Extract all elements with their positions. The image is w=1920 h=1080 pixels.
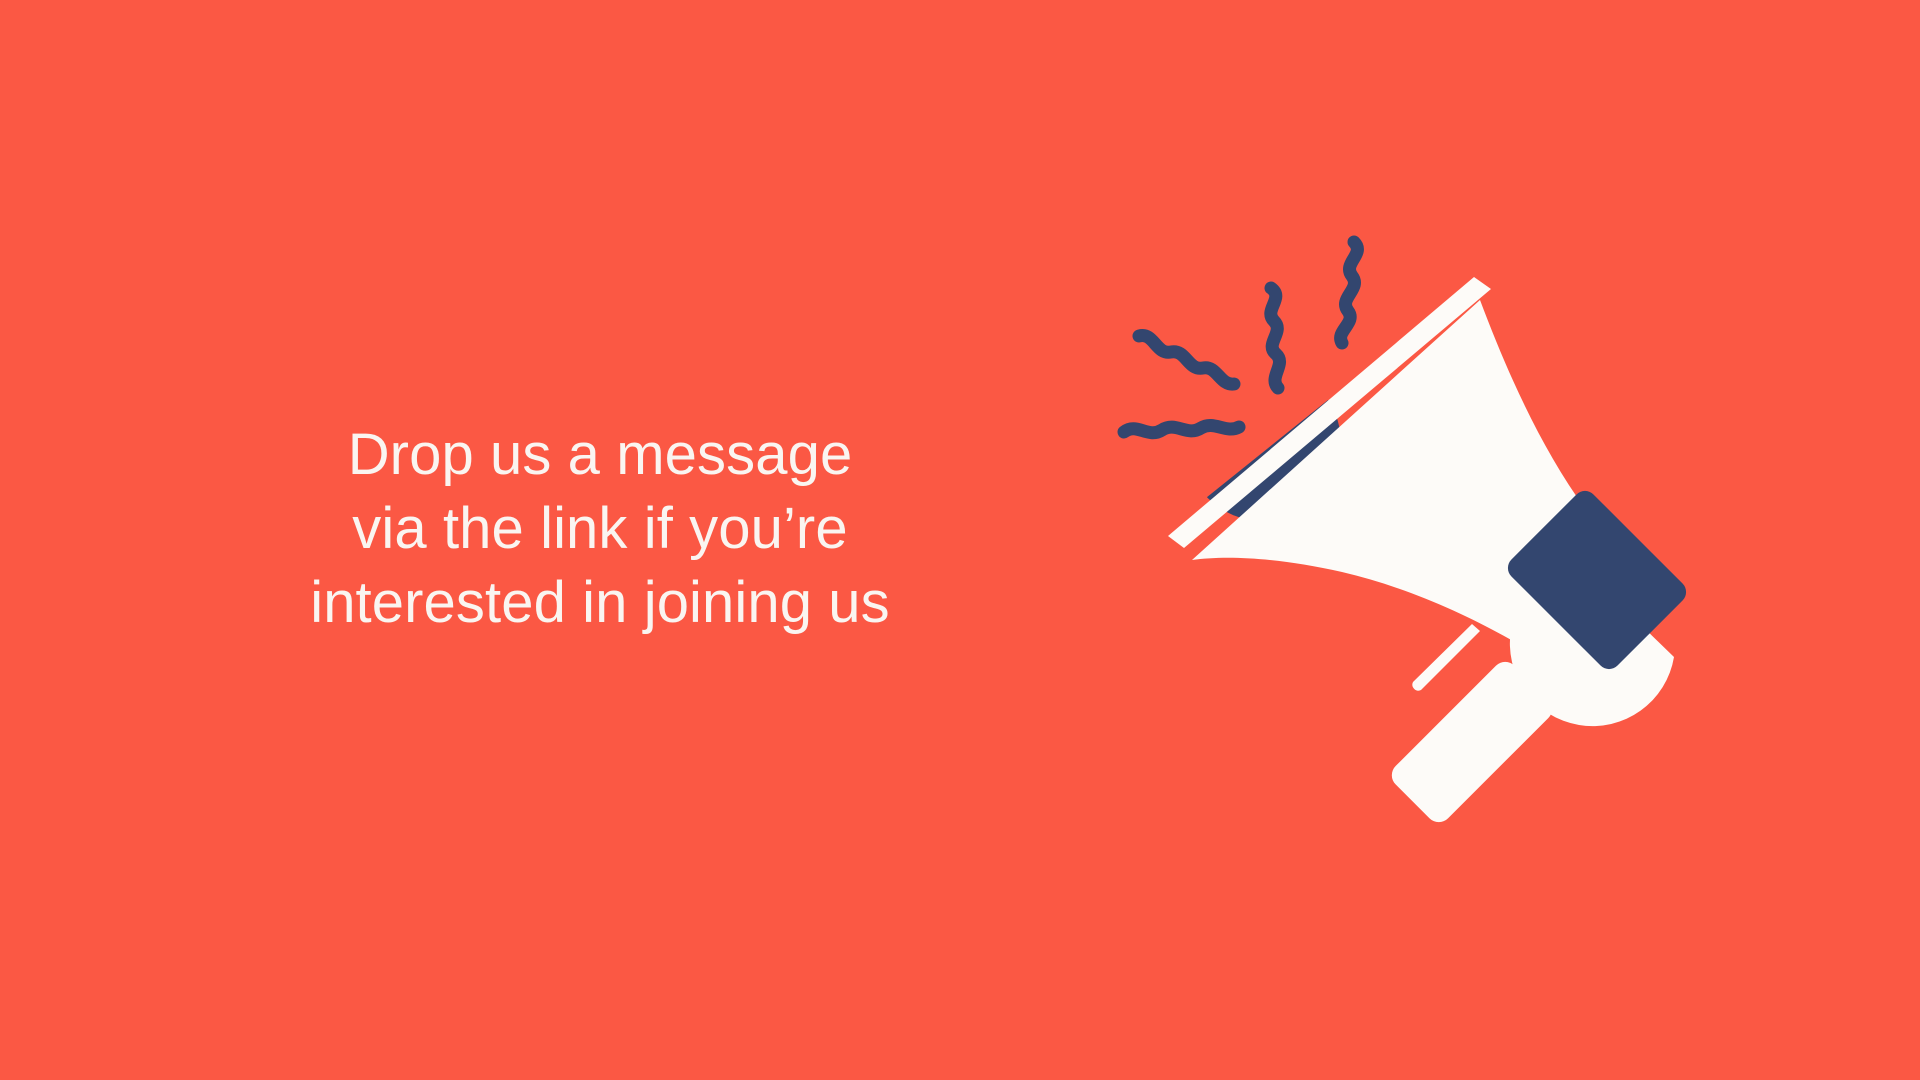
headline-text: Drop us a message via the link if you’re…: [150, 418, 1050, 640]
headline-line-2: via the link if you’re: [150, 492, 1050, 566]
slide-canvas: Drop us a message via the link if you’re…: [0, 0, 1920, 1080]
sound-squiggle-3: [1271, 288, 1280, 388]
sound-squiggle-4: [1341, 242, 1358, 343]
handle-sliver: [1412, 624, 1480, 691]
megaphone-illustration: [1080, 230, 1720, 910]
megaphone-svg: [1080, 230, 1720, 910]
headline-line-1: Drop us a message: [150, 418, 1050, 492]
sound-squiggle-2: [1139, 336, 1234, 385]
sound-squiggles-group: [1124, 242, 1357, 433]
headline-line-3: interested in joining us: [150, 566, 1050, 640]
sound-squiggle-1: [1124, 425, 1239, 432]
